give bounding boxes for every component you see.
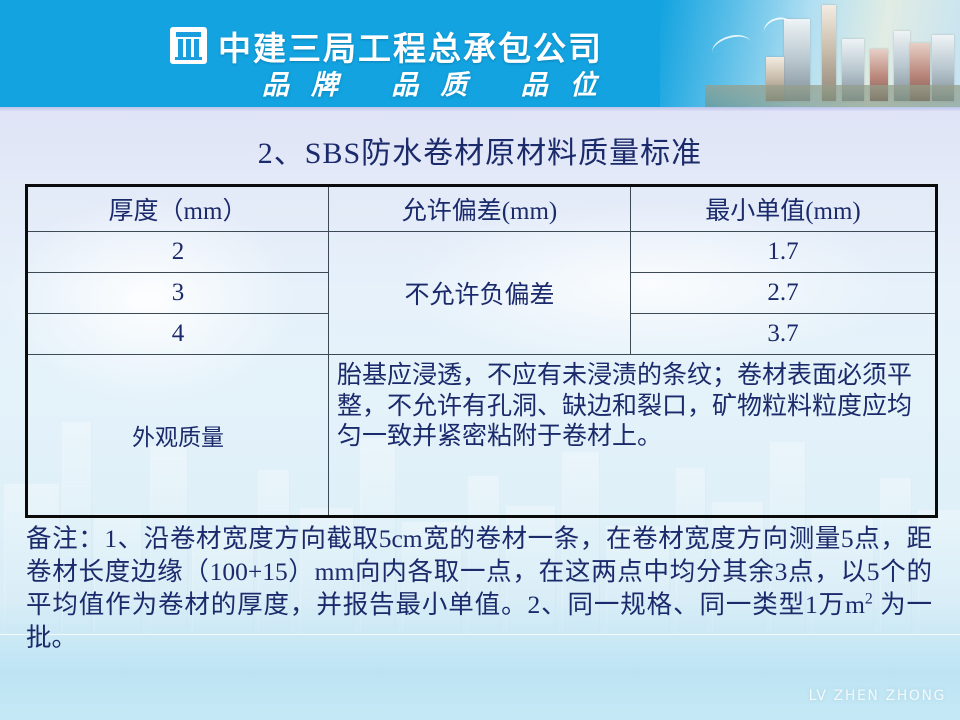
company-banner: 中建三局工程总承包公司 品牌 品质 品位 xyxy=(0,0,960,107)
cell-appearance-text: 胎基应浸透，不应有未浸渍的条纹；卷材表面必须平整，不允许有孔洞、缺边和裂口，矿物… xyxy=(329,355,937,517)
banner-ground-haze xyxy=(705,85,960,107)
table-header-row: 厚度（mm） 允许偏差(mm) 最小单值(mm) xyxy=(27,186,937,232)
cell-thickness: 4 xyxy=(27,314,329,355)
cell-thickness: 3 xyxy=(27,273,329,314)
header-deviation: 允许偏差(mm) xyxy=(329,186,631,232)
footnote: 备注：1、沿卷材宽度方向截取5cm宽的卷材一条，在卷材宽度方向测量5点，距卷材长… xyxy=(26,522,932,655)
cell-appearance-label: 外观质量 xyxy=(27,355,329,517)
header-min-value: 最小单值(mm) xyxy=(631,186,937,232)
slide-canvas: 中建三局工程总承包公司 品牌 品质 品位 2、SBS防水卷材原材料质量标准 厚度… xyxy=(0,0,960,720)
cell-deviation-merged: 不允许负偏差 xyxy=(329,232,631,355)
table-row: 2 不允许负偏差 1.7 xyxy=(27,232,937,273)
header-thickness: 厚度（mm） xyxy=(27,186,329,232)
cell-min-value: 1.7 xyxy=(631,232,937,273)
cell-min-value: 3.7 xyxy=(631,314,937,355)
table-row-appearance: 外观质量 胎基应浸透，不应有未浸渍的条纹；卷材表面必须平整，不允许有孔洞、缺边和… xyxy=(27,355,937,517)
watermark: LV ZHEN ZHONG xyxy=(809,688,946,704)
company-logo xyxy=(170,27,207,64)
page-title: 2、SBS防水卷材原材料质量标准 xyxy=(0,128,960,172)
spec-table: 厚度（mm） 允许偏差(mm) 最小单值(mm) 2 不允许负偏差 1.7 3 … xyxy=(25,184,938,518)
cell-min-value: 2.7 xyxy=(631,273,937,314)
banner-divider xyxy=(0,107,960,111)
footnote-part1: 备注：1、沿卷材宽度方向截取5cm宽的卷材一条，在卷材宽度方向测量5点，距卷材长… xyxy=(26,524,932,619)
spec-table-wrapper: 厚度（mm） 允许偏差(mm) 最小单值(mm) 2 不允许负偏差 1.7 3 … xyxy=(25,184,935,518)
footnote-superscript: 2 xyxy=(865,591,873,608)
cell-thickness: 2 xyxy=(27,232,329,273)
company-slogan: 品牌 品质 品位 xyxy=(262,63,619,102)
